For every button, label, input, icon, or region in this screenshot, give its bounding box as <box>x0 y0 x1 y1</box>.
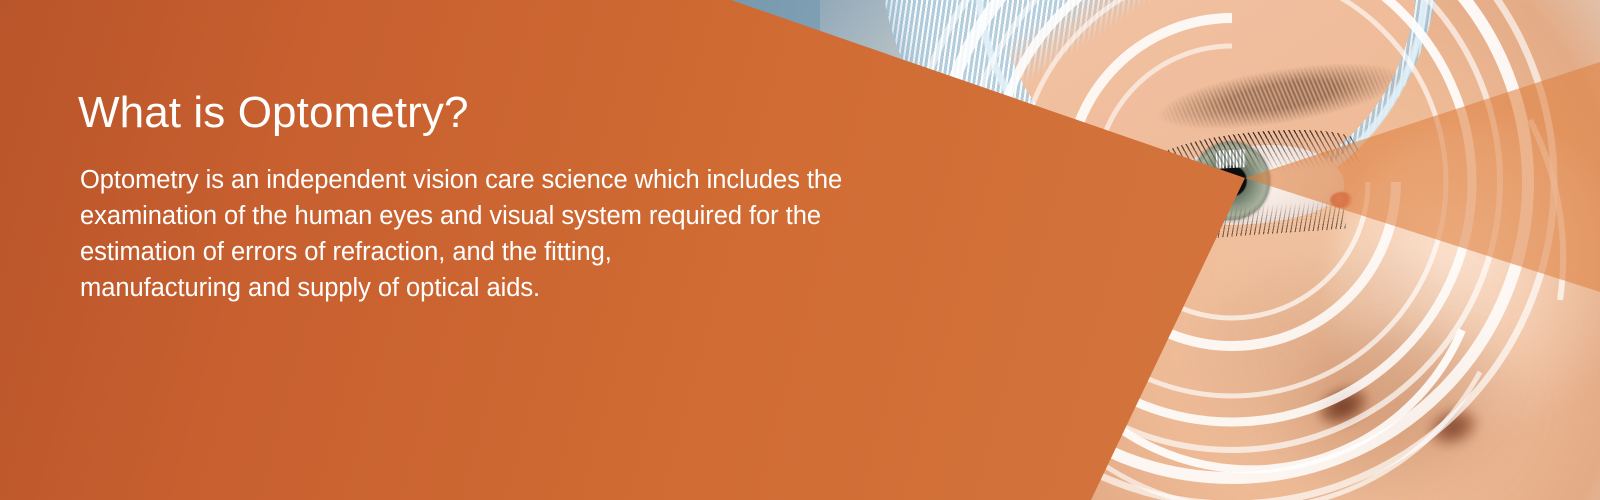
description-line: estimation of errors of refraction, and … <box>80 234 1038 270</box>
optometry-banner: What is Optometry? Optometry is an indep… <box>0 0 1600 500</box>
description-line: examination of the human eyes and visual… <box>80 198 1038 234</box>
banner-description: Optometry is an independent vision care … <box>80 162 1038 306</box>
banner-copy: What is Optometry? Optometry is an indep… <box>78 86 1038 306</box>
page-title: What is Optometry? <box>78 86 1038 140</box>
description-line: manufacturing and supply of optical aids… <box>80 270 1038 306</box>
description-line: Optometry is an independent vision care … <box>80 162 1038 198</box>
